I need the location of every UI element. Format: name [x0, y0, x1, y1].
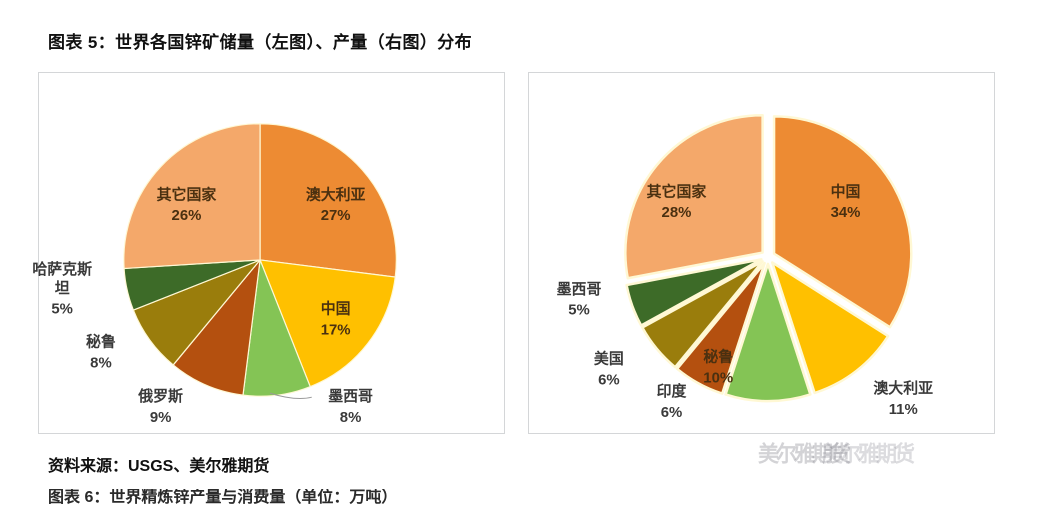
next-figure-caption-text: 图表 6：世界精炼锌产量与消费量（单位：万吨）	[48, 489, 397, 506]
next-figure-caption-clipped: 图表 6：世界精炼锌产量与消费量（单位：万吨）	[48, 489, 397, 506]
slice-label-value: 9%	[150, 410, 172, 426]
slice-label-name: 澳大利亚	[873, 379, 933, 397]
slice-label-value: 6%	[598, 372, 620, 388]
slice-label-name: 澳大利亚	[306, 185, 366, 203]
slice-label-value: 5%	[51, 302, 73, 318]
pie-chart-reserves: 澳大利亚27%中国17%墨西哥8%俄罗斯9%秘鲁8%哈萨克斯坦5%其它国家26%	[39, 73, 504, 433]
slice-label-name: 其它国家	[647, 182, 707, 200]
slice-label-name: 秘鲁	[703, 347, 733, 365]
slice-label-name: 其它国家	[157, 185, 217, 203]
slice-label-name: 中国	[831, 182, 861, 200]
figure-page: 图表 5：世界各国锌矿储量（左图）、产量（右图）分布 澳大利亚27%中国17%墨…	[0, 0, 1064, 506]
pie-chart-production: 中国34%澳大利亚11%秘鲁10%印度6%美国6%墨西哥5%其它国家28%	[529, 73, 994, 433]
slice-label-name: 美国	[594, 349, 624, 367]
slice-label-name: 哈萨克斯坦	[32, 260, 92, 297]
slice-label-name: 印度	[657, 382, 687, 400]
slice-label-value: 5%	[568, 303, 590, 319]
slice-label-name: 中国	[321, 300, 351, 318]
slice-label-name: 墨西哥	[328, 388, 373, 405]
watermark-text-b: 美尔雅期货	[822, 443, 912, 467]
watermark: 美尔雅期货美尔雅期货	[758, 437, 912, 469]
slice-label-value: 11%	[889, 402, 918, 418]
page-title: 图表 5：世界各国锌矿储量（左图）、产量（右图）分布	[48, 28, 472, 53]
slice-label-value: 17%	[321, 323, 351, 339]
slice-label-name: 俄罗斯	[137, 387, 183, 405]
slice-label-value: 28%	[662, 205, 692, 221]
slice-label-value: 8%	[90, 355, 112, 371]
slice-label-value: 6%	[661, 405, 683, 421]
chart-panel-production: 中国34%澳大利亚11%秘鲁10%印度6%美国6%墨西哥5%其它国家28%	[528, 72, 995, 434]
slice-label-value: 27%	[321, 208, 351, 224]
slice-label-name: 秘鲁	[86, 332, 116, 350]
slice-label-value: 10%	[703, 370, 733, 386]
slice-label-value: 26%	[172, 208, 202, 224]
slice-label-value: 34%	[831, 205, 861, 221]
slice-label-value: 8%	[340, 410, 362, 426]
chart-panel-reserves: 澳大利亚27%中国17%墨西哥8%俄罗斯9%秘鲁8%哈萨克斯坦5%其它国家26%	[38, 72, 505, 434]
slice-label-name: 墨西哥	[557, 281, 602, 298]
source-note: 资料来源：USGS、美尔雅期货	[48, 452, 269, 476]
